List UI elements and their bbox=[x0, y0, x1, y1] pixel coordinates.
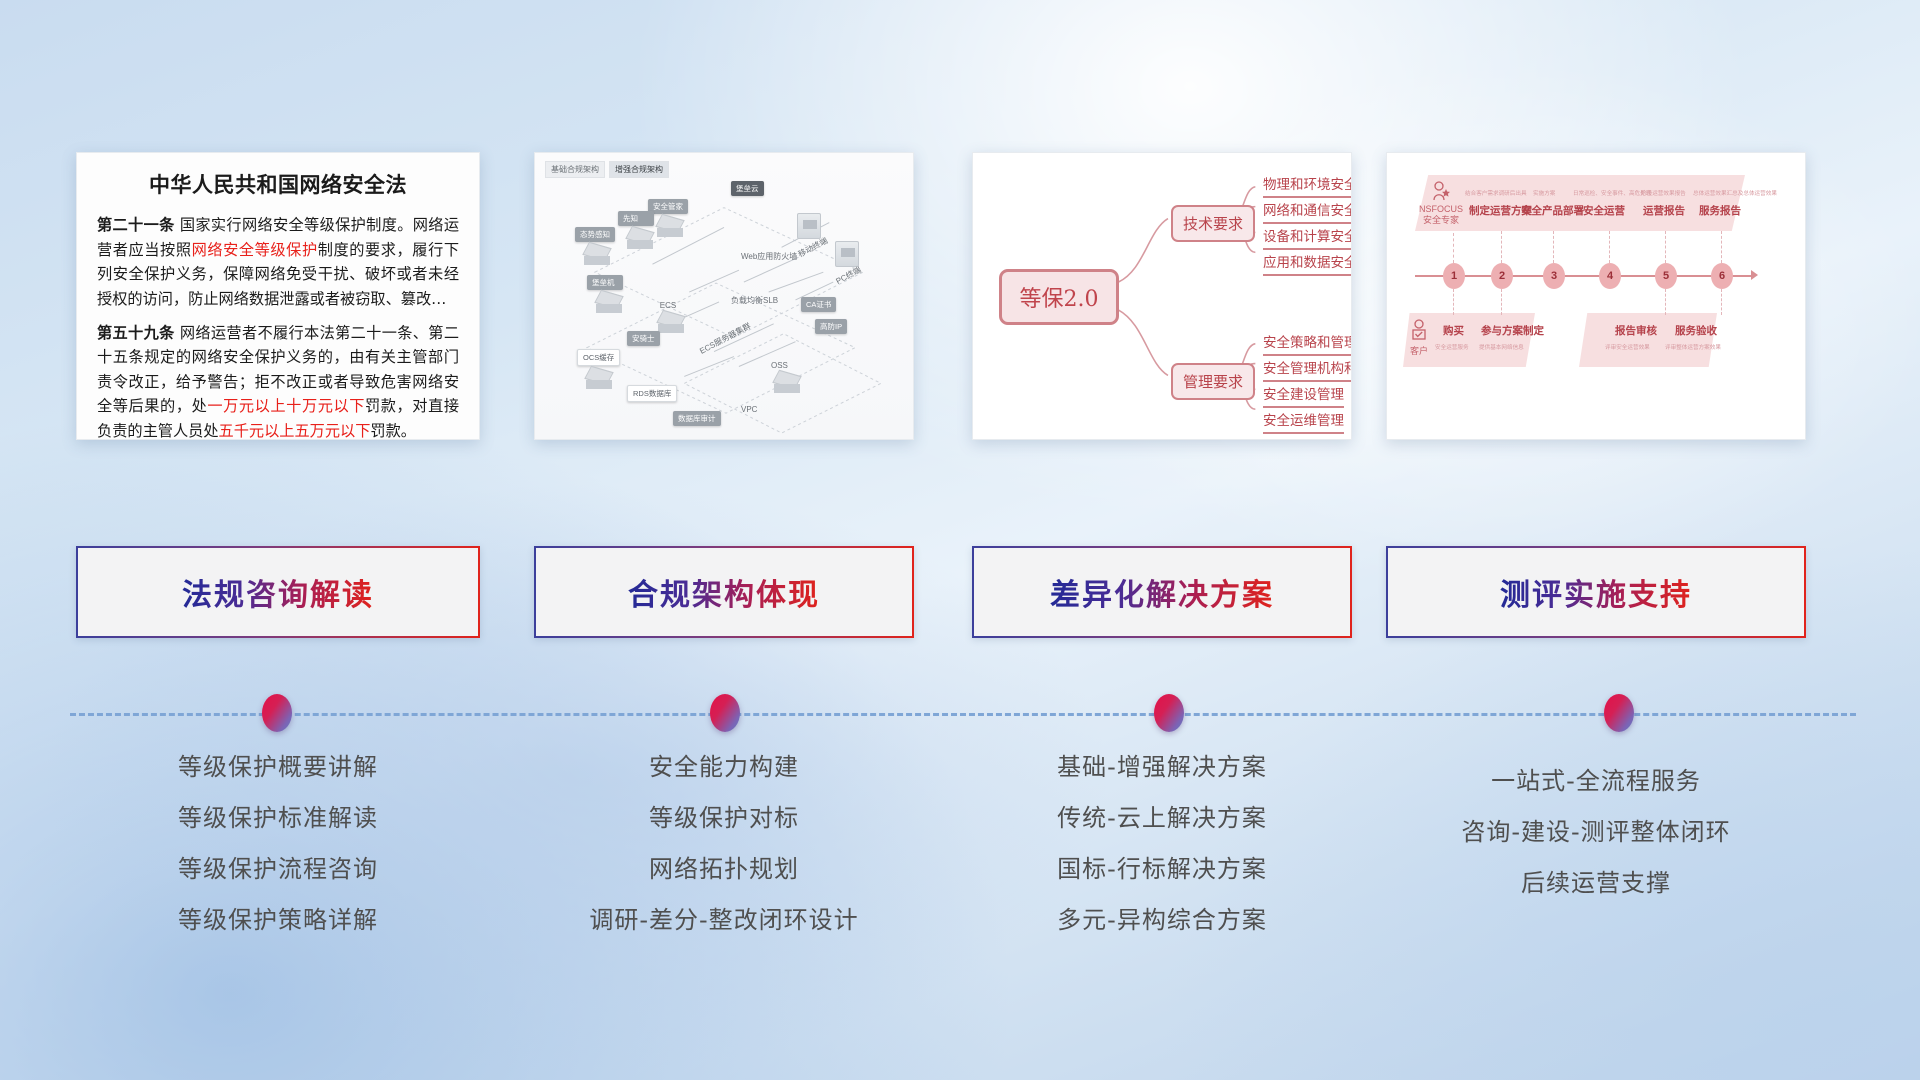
mindmap-leaf-policy-system: 安全策略和管理制度 bbox=[1263, 331, 1352, 356]
mindmap-leaf-construction-mgmt: 安全建设管理 bbox=[1263, 383, 1344, 408]
tick-6 bbox=[1721, 231, 1722, 263]
process-bottom-sub-4: 评审整体运营方案效果 bbox=[1665, 343, 1721, 351]
node-anti-ddos-ip: 高防IP bbox=[815, 319, 847, 334]
list-item: 咨询-建设-测评整体闭环 bbox=[1386, 807, 1806, 858]
tick-3 bbox=[1553, 231, 1554, 263]
law-card: 中华人民共和国网络安全法 第二十一条 国家实行网络安全等级保护制度。网络运营者应… bbox=[76, 152, 480, 440]
node-database-audit: 数据库审计 bbox=[673, 411, 721, 426]
mindmap-leaf-device-compute: 设备和计算安全 bbox=[1263, 225, 1352, 250]
process-card: NSFOCUS安全专家 客户 1 2 3 4 5 6 bbox=[1386, 152, 1806, 440]
headline-label-4: 测评实施支持 bbox=[1500, 570, 1692, 614]
process-top-sub-3: 日常巡检、安全事件、高危处理 bbox=[1573, 189, 1651, 197]
process-bottom-caption-1: 购买 bbox=[1443, 323, 1464, 338]
node-ca-certificate: CA证书 bbox=[801, 297, 836, 312]
process-top-sub-2: 实施方案 bbox=[1533, 189, 1555, 197]
list-item: 等级保护流程咨询 bbox=[76, 844, 480, 895]
list-item: 调研-差分-整改闭环设计 bbox=[534, 895, 914, 946]
mindmap-leaf-org-personnel: 安全管理机构和人员 bbox=[1263, 357, 1352, 382]
slide-stage: 中华人民共和国网络安全法 第二十一条 国家实行网络安全等级保护制度。网络运营者应… bbox=[0, 0, 1920, 1080]
node-baolei-cloud: 堡垒云 bbox=[731, 181, 764, 196]
list-item: 一站式-全流程服务 bbox=[1386, 756, 1806, 807]
node-vpc: VPC bbox=[741, 405, 757, 414]
expert-icon bbox=[1430, 181, 1452, 201]
mindmap-branch-management: 管理要求 bbox=[1171, 363, 1255, 400]
article-number-21: 第二十一条 bbox=[97, 216, 175, 234]
process-axis bbox=[1415, 275, 1755, 277]
process-step-4: 4 bbox=[1599, 263, 1621, 289]
node-anqishi: 安骑士 bbox=[627, 331, 660, 346]
list-item: 安全能力构建 bbox=[534, 742, 914, 793]
node-pc-terminal: PC终端 bbox=[835, 241, 862, 281]
law-content: 中华人民共和国网络安全法 第二十一条 国家实行网络安全等级保护制度。网络运营者应… bbox=[77, 153, 479, 440]
detail-list-row: 等级保护概要讲解 等级保护标准解读 等级保护流程咨询 等级保护策略详解 安全能力… bbox=[0, 742, 1920, 972]
process-top-sub-4: 阶段运营效果报告 bbox=[1641, 189, 1686, 197]
mindmap-leaf-physical-env: 物理和环境安全 bbox=[1263, 173, 1352, 198]
timeline bbox=[70, 694, 1856, 734]
detail-list-column-4: 一站式-全流程服务 咨询-建设-测评整体闭环 后续运营支撑 bbox=[1386, 742, 1806, 909]
headline-label-3: 差异化解决方案 bbox=[1050, 570, 1274, 614]
timeline-dot-4[interactable] bbox=[1604, 694, 1634, 732]
headline-box-assessment-support[interactable]: 测评实施支持 bbox=[1386, 546, 1806, 638]
law-title: 中华人民共和国网络安全法 bbox=[97, 169, 459, 199]
timeline-dot-1[interactable] bbox=[262, 694, 292, 732]
article-number-59: 第五十九条 bbox=[97, 324, 175, 342]
process-step-1: 1 bbox=[1443, 263, 1465, 289]
process-role-expert: NSFOCUS安全专家 bbox=[1419, 181, 1463, 226]
mindmap-leaf-ops-mgmt: 安全运维管理 bbox=[1263, 409, 1344, 434]
article-59-highlight-2: 五千元以上五万元以下 bbox=[219, 422, 371, 440]
node-slb: 负载均衡SLB bbox=[731, 295, 778, 306]
customer-icon bbox=[1409, 319, 1429, 341]
list-item: 等级保护策略详解 bbox=[76, 895, 480, 946]
process-top-sub-1: 结合客户需求调研后出具 bbox=[1465, 189, 1527, 197]
node-situation-awareness: 态势感知 bbox=[575, 227, 615, 266]
node-ecs: ECS bbox=[651, 301, 685, 334]
tick-b1 bbox=[1453, 289, 1454, 315]
list-item: 传统-云上解决方案 bbox=[972, 793, 1352, 844]
process-bottom-sub-2: 提供基本网络信息 bbox=[1479, 343, 1524, 351]
list-item: 网络拓扑规划 bbox=[534, 844, 914, 895]
process-bottom-sub-1: 安全运营服务 bbox=[1435, 343, 1469, 351]
headline-row: 法规咨询解读 合规架构体现 差异化解决方案 测评实施支持 bbox=[0, 546, 1920, 642]
process-bottom-band-right bbox=[1579, 313, 1717, 367]
timeline-dot-3[interactable] bbox=[1154, 694, 1184, 732]
process-bottom-caption-2: 参与方案制定 bbox=[1481, 323, 1544, 338]
detail-list-column-3: 基础-增强解决方案 传统-云上解决方案 国标-行标解决方案 多元-异构综合方案 bbox=[972, 742, 1352, 946]
list-item: 等级保护概要讲解 bbox=[76, 742, 480, 793]
node-bastion-host: 堡垒机 bbox=[587, 275, 623, 314]
process-bottom-caption-4: 服务验收 bbox=[1675, 323, 1717, 338]
process-top-caption-3: 安全运营 bbox=[1583, 203, 1625, 218]
detail-list-column-2: 安全能力构建 等级保护对标 网络拓扑规划 调研-差分-整改闭环设计 bbox=[534, 742, 914, 946]
architecture-card: 基础合规架构 增强合规架构 bbox=[534, 152, 914, 440]
list-item: 多元-异构综合方案 bbox=[972, 895, 1352, 946]
image-card-row: 中华人民共和国网络安全法 第二十一条 国家实行网络安全等级保护制度。网络运营者应… bbox=[0, 152, 1920, 442]
headline-label-2: 合规架构体现 bbox=[628, 570, 820, 614]
list-item: 国标-行标解决方案 bbox=[972, 844, 1352, 895]
list-item: 等级保护对标 bbox=[534, 793, 914, 844]
article-59-after: 罚款。 bbox=[370, 422, 416, 440]
process-step-6: 6 bbox=[1711, 263, 1733, 289]
mindmap-diagram: 等保2.0 技术要求 物理和环境安全 网络和通信安全 设备和计算安全 应用和数据… bbox=[973, 153, 1351, 439]
process-top-caption-5: 服务报告 bbox=[1699, 203, 1741, 218]
mindmap-card: 等保2.0 技术要求 物理和环境安全 网络和通信安全 设备和计算安全 应用和数据… bbox=[972, 152, 1352, 440]
process-top-caption-2: 安全产品部署 bbox=[1521, 203, 1584, 218]
article-21-highlight: 网络安全等级保护 bbox=[192, 241, 318, 259]
architecture-diagram: 基础合规架构 增强合规架构 bbox=[535, 153, 913, 439]
process-axis-arrow bbox=[1751, 270, 1758, 280]
node-xianzhi: 先知 bbox=[618, 211, 654, 250]
process-top-sub-5: 总体运营效果汇总及总体运营效果 bbox=[1693, 189, 1777, 197]
node-oss: OSS bbox=[771, 361, 801, 394]
timeline-dashed-line bbox=[70, 713, 1856, 716]
process-role-customer: 客户 bbox=[1409, 319, 1429, 357]
mindmap-leaf-app-data: 应用和数据安全 bbox=[1263, 251, 1352, 276]
process-bottom-sub-3: 评审安全运营效果 bbox=[1605, 343, 1650, 351]
process-diagram: NSFOCUS安全专家 客户 1 2 3 4 5 6 bbox=[1387, 153, 1805, 439]
tick-5 bbox=[1665, 231, 1666, 263]
tick-1 bbox=[1453, 233, 1454, 263]
law-article-21: 第二十一条 国家实行网络安全等级保护制度。网络运营者应当按照网络安全等级保护制度… bbox=[97, 213, 459, 312]
mindmap-branch-technical: 技术要求 bbox=[1171, 205, 1255, 242]
process-top-caption-4: 运营报告 bbox=[1643, 203, 1685, 218]
detail-list-column-1: 等级保护概要讲解 等级保护标准解读 等级保护流程咨询 等级保护策略详解 bbox=[76, 742, 480, 946]
tick-b3 bbox=[1665, 289, 1666, 315]
timeline-dot-2[interactable] bbox=[710, 694, 740, 732]
node-ocs-cache: OCS缓存 bbox=[577, 349, 620, 390]
node-waf: Web应用防火墙 bbox=[741, 251, 797, 262]
article-59-highlight-1: 一万元以上十万元以下 bbox=[207, 397, 365, 415]
list-item: 等级保护标准解读 bbox=[76, 793, 480, 844]
tick-b4 bbox=[1721, 289, 1722, 315]
mindmap-root-node: 等保2.0 bbox=[999, 269, 1119, 325]
process-step-3: 3 bbox=[1543, 263, 1565, 289]
tick-4 bbox=[1609, 231, 1610, 263]
process-step-2: 2 bbox=[1491, 263, 1513, 289]
list-item: 基础-增强解决方案 bbox=[972, 742, 1352, 793]
tick-b2 bbox=[1501, 289, 1502, 315]
headline-label-1: 法规咨询解读 bbox=[182, 570, 374, 614]
law-article-59: 第五十九条 网络运营者不履行本法第二十一条、第二十五条规定的网络安全保护义务的，… bbox=[97, 321, 459, 441]
list-item: 后续运营支撑 bbox=[1386, 858, 1806, 909]
process-bottom-caption-3: 报告审核 bbox=[1615, 323, 1657, 338]
headline-box-differentiated-solution[interactable]: 差异化解决方案 bbox=[972, 546, 1352, 638]
headline-box-compliance-architecture[interactable]: 合规架构体现 bbox=[534, 546, 914, 638]
node-rds-database: RDS数据库 bbox=[627, 385, 677, 402]
process-step-5: 5 bbox=[1655, 263, 1677, 289]
tick-2 bbox=[1501, 231, 1502, 263]
mindmap-leaf-network-comm: 网络和通信安全 bbox=[1263, 199, 1352, 224]
headline-box-regulation-consulting[interactable]: 法规咨询解读 bbox=[76, 546, 480, 638]
node-mobile-terminal: 移动终端 bbox=[797, 213, 829, 253]
